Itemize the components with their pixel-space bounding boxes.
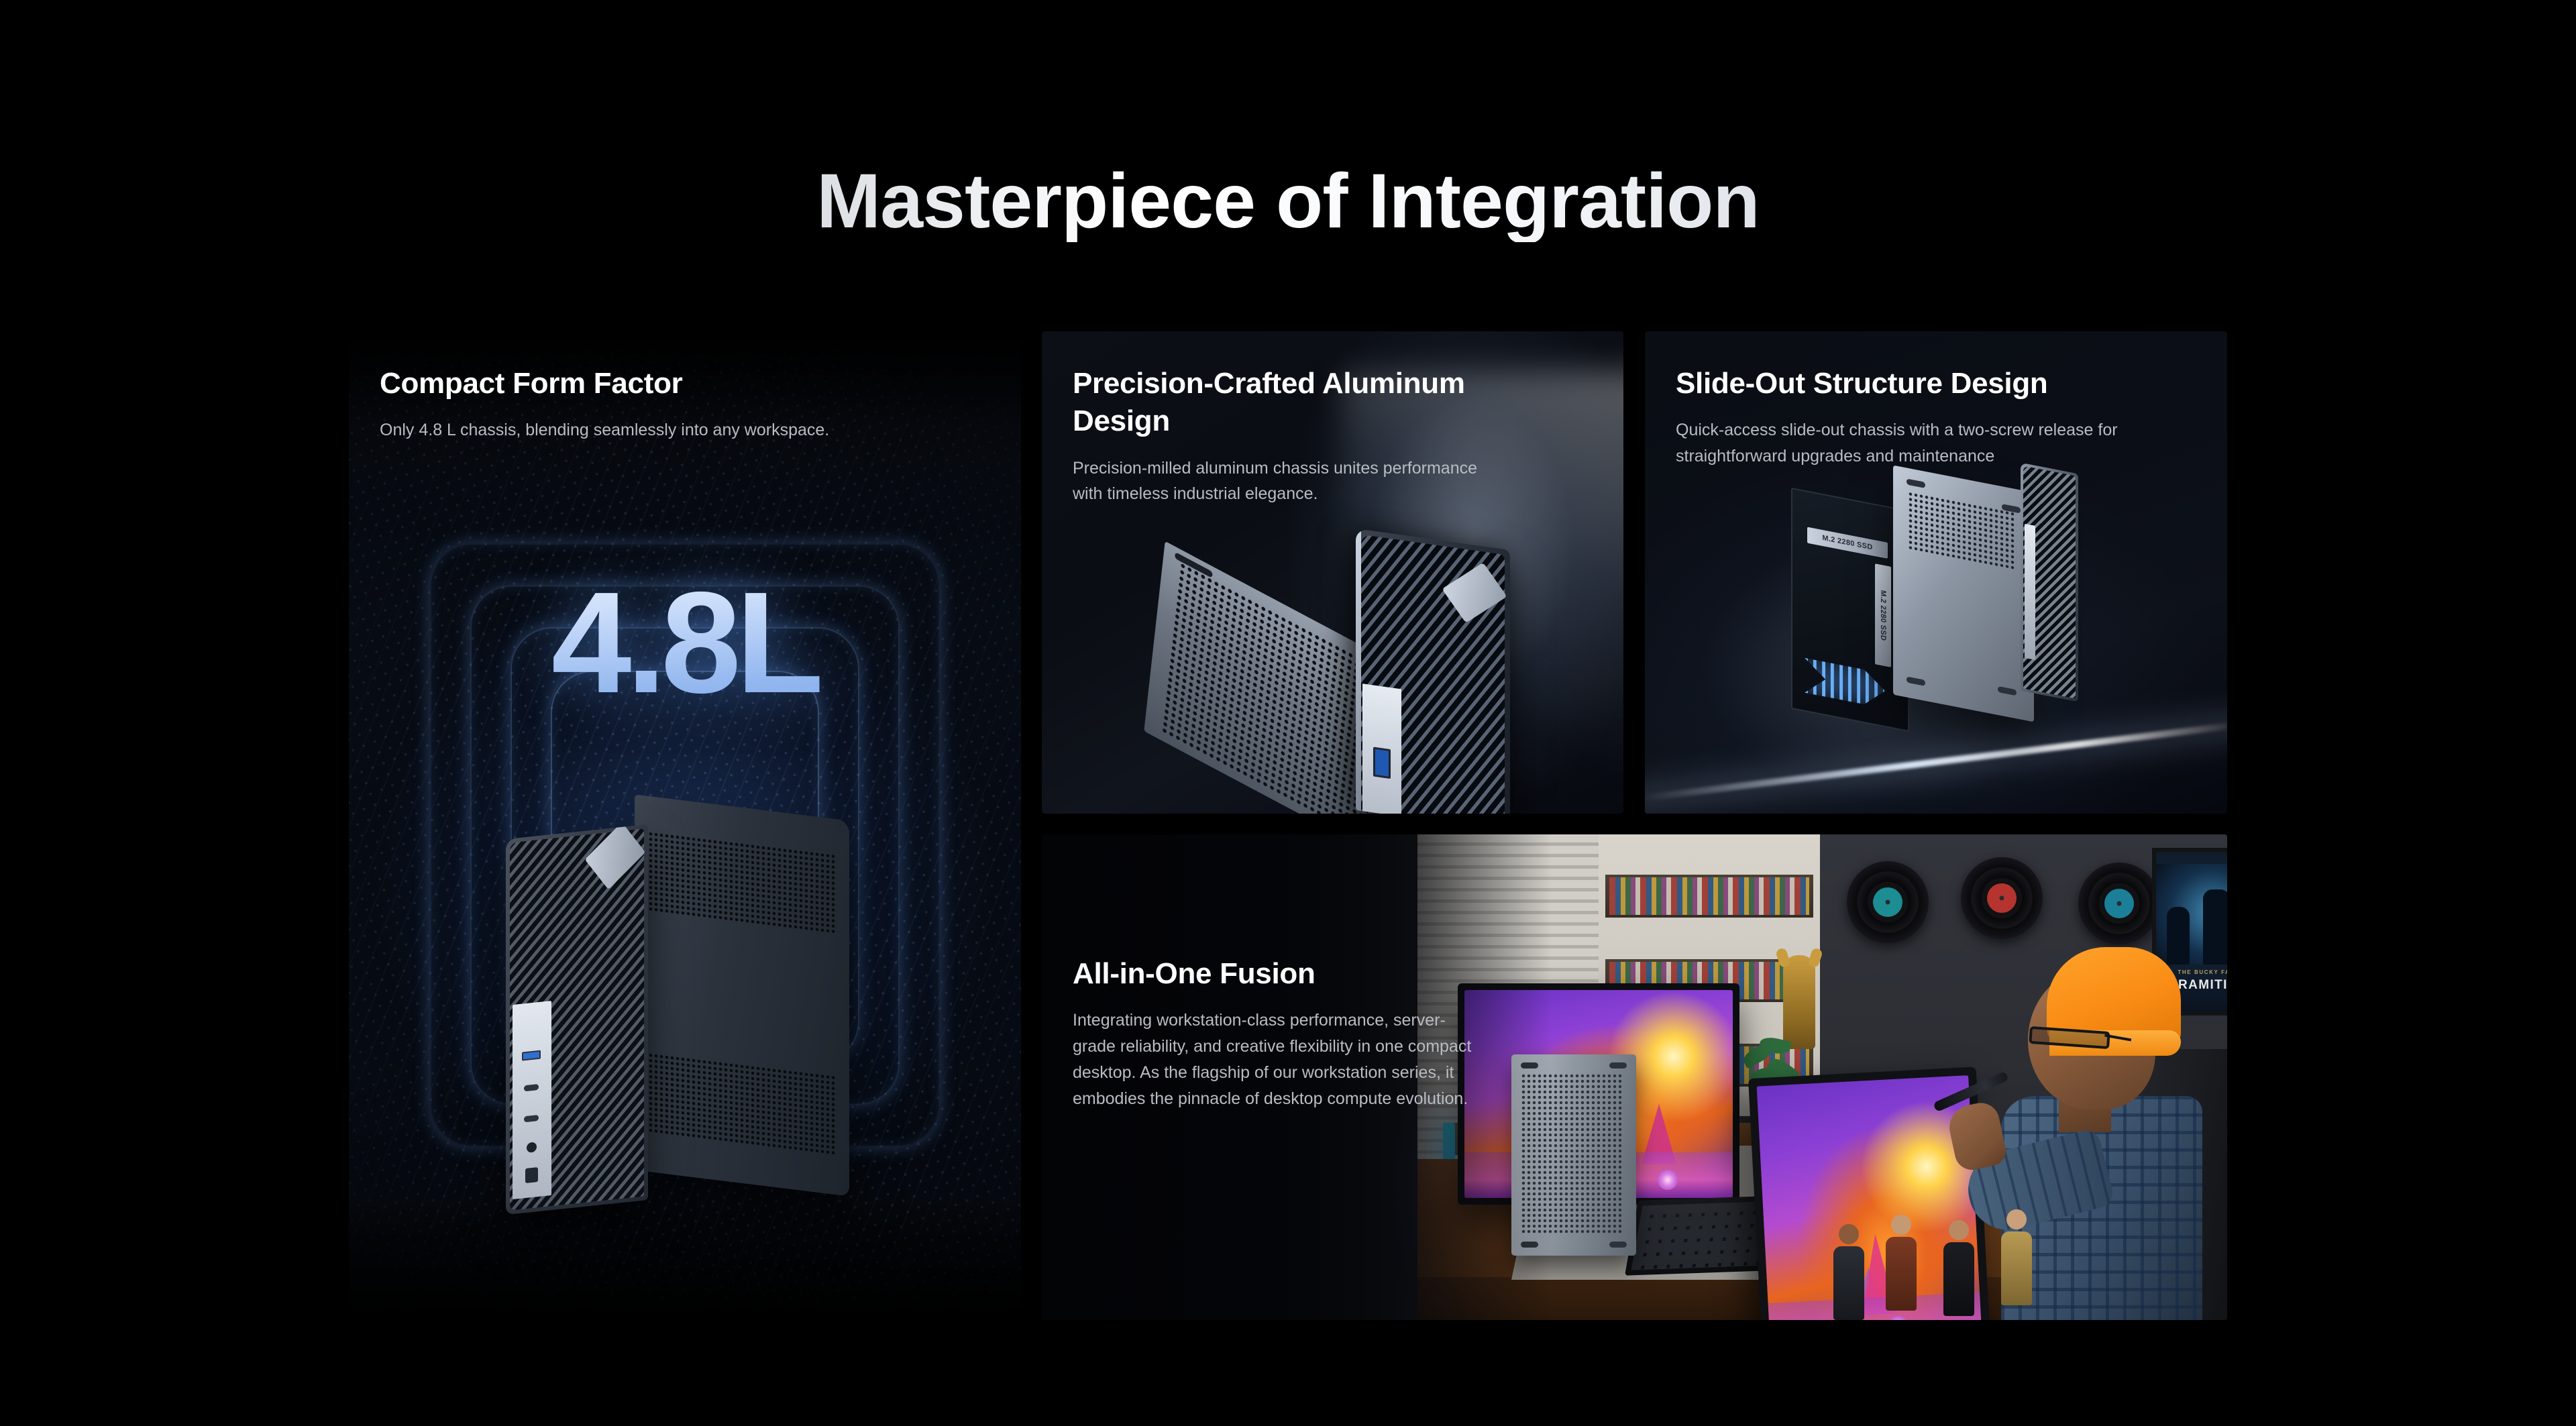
- feature-card-grid: 4.8L: [349, 331, 2227, 1320]
- artwork-flower: [1658, 1170, 1678, 1190]
- books: [1609, 877, 1809, 915]
- card-copy-fusion: All-in-One Fusion Integrating workstatio…: [1073, 955, 1502, 1111]
- card-copy-aluminum: Precision-Crafted Aluminum Design Precis…: [1073, 365, 1489, 507]
- chassis-foot-1: [1907, 478, 1925, 488]
- bottom-vignette: [349, 1199, 1021, 1320]
- usb-a-port-icon: [522, 1050, 541, 1061]
- feature-card-slide-out-structure[interactable]: M.2 2280 SSD M.2 2280 SSD Slide-Out: [1645, 331, 2227, 814]
- usb-a-port-icon: [1373, 747, 1391, 779]
- figurine-head: [2006, 1209, 2027, 1229]
- feature-card-compact-form-factor[interactable]: 4.8L: [349, 331, 1021, 1320]
- chassis-foot-4: [1998, 686, 2017, 696]
- figurine-body: [1886, 1237, 1917, 1311]
- card-description-compact: Only 4.8 L chassis, blending seamlessly …: [380, 417, 890, 443]
- vinyl-record-1: [1847, 861, 1929, 943]
- front-io-panel: [2025, 524, 2035, 660]
- record-label: [2104, 889, 2134, 918]
- front-io-panel: [1362, 683, 1401, 814]
- foreground-figurine-group: [1833, 1099, 2075, 1320]
- chassis-foot-4: [1609, 1242, 1627, 1248]
- figurine-3: [1943, 1220, 1974, 1316]
- figurine-body: [2001, 1231, 2032, 1305]
- power-button-icon[interactable]: [525, 1167, 538, 1183]
- figurine-head: [1949, 1220, 1969, 1240]
- card-description-aluminum: Precision-milled aluminum chassis unites…: [1073, 455, 1489, 508]
- record-label: [1873, 887, 1902, 917]
- card-copy-compact: Compact Form Factor Only 4.8 L chassis, …: [380, 365, 890, 443]
- chassis-edge-rim: [1356, 529, 1361, 811]
- card-description-slideout: Quick-access slide-out chassis with a tw…: [1676, 417, 2118, 470]
- airflow-chevron-glow: [1805, 658, 1885, 708]
- collectible-figurine: [1783, 955, 1815, 1049]
- chassis-foot-3: [1907, 676, 1925, 685]
- chassis-side-panel: [635, 794, 849, 1196]
- card-title-compact: Compact Form Factor: [380, 365, 890, 402]
- card-title-slideout: Slide-Out Structure Design: [1676, 365, 2118, 402]
- product-feature-page: Masterpiece of Integration 4.8L: [0, 0, 2576, 1426]
- usb-c-port-icon-2: [524, 1115, 539, 1122]
- usb-c-port-icon-1: [524, 1084, 539, 1091]
- volume-metric-overlay: 4.8L: [349, 559, 1021, 726]
- figurine-2: [1886, 1215, 1917, 1311]
- chassis-bottom-panel: [1893, 465, 2034, 722]
- headphone-jack-icon: [527, 1142, 537, 1153]
- product-render-mini-pc-angled: [1155, 512, 1530, 814]
- vinyl-record-2: [1961, 857, 2043, 939]
- figurine-body: [1833, 1246, 1864, 1320]
- figurine-head: [1839, 1224, 1859, 1244]
- slide-out-tray: M.2 2280 SSD M.2 2280 SSD: [1791, 488, 1909, 732]
- card-description-fusion: Integrating workstation-class performanc…: [1073, 1007, 1475, 1111]
- front-io-panel: [513, 1001, 551, 1199]
- chassis-front-panel: [506, 824, 648, 1215]
- card-title-aluminum: Precision-Crafted Aluminum Design: [1073, 365, 1489, 441]
- page-title: Masterpiece of Integration: [0, 161, 2576, 242]
- card-title-fusion: All-in-One Fusion: [1073, 955, 1502, 993]
- figurine-body: [1943, 1242, 1974, 1316]
- product-render-mini-pc-front: [502, 801, 851, 1217]
- top-vent-mesh: [1161, 561, 1384, 814]
- product-render-slide-out-chassis: M.2 2280 SSD M.2 2280 SSD: [1791, 463, 2100, 745]
- bookshelf-row-1: [1605, 875, 1813, 918]
- card-copy-slideout: Slide-Out Structure Design Quick-access …: [1676, 365, 2118, 470]
- chassis-foot-2: [1609, 1062, 1627, 1068]
- figurine-head: [1891, 1215, 1911, 1235]
- m2-ssd-label-1: M.2 2280 SSD: [1807, 527, 1888, 559]
- figurine-1: [1833, 1224, 1864, 1320]
- chassis-front-face: [1356, 529, 1510, 814]
- record-label: [1987, 883, 2017, 913]
- panel-vent-mesh: [1908, 491, 2017, 569]
- feature-card-aluminum-design[interactable]: Precision-Crafted Aluminum Design Precis…: [1042, 331, 1623, 814]
- vent-mesh-bottom: [643, 1052, 837, 1156]
- figurine-4: [2001, 1209, 2032, 1305]
- feature-card-all-in-one-fusion[interactable]: THE BUCKY FAIQTE RAMITIES EMAR: [1042, 834, 2227, 1320]
- vent-mesh-top: [643, 830, 837, 935]
- m2-ssd-label-2: M.2 2280 SSD: [1875, 563, 1891, 667]
- chassis-front-spine: [2021, 463, 2078, 702]
